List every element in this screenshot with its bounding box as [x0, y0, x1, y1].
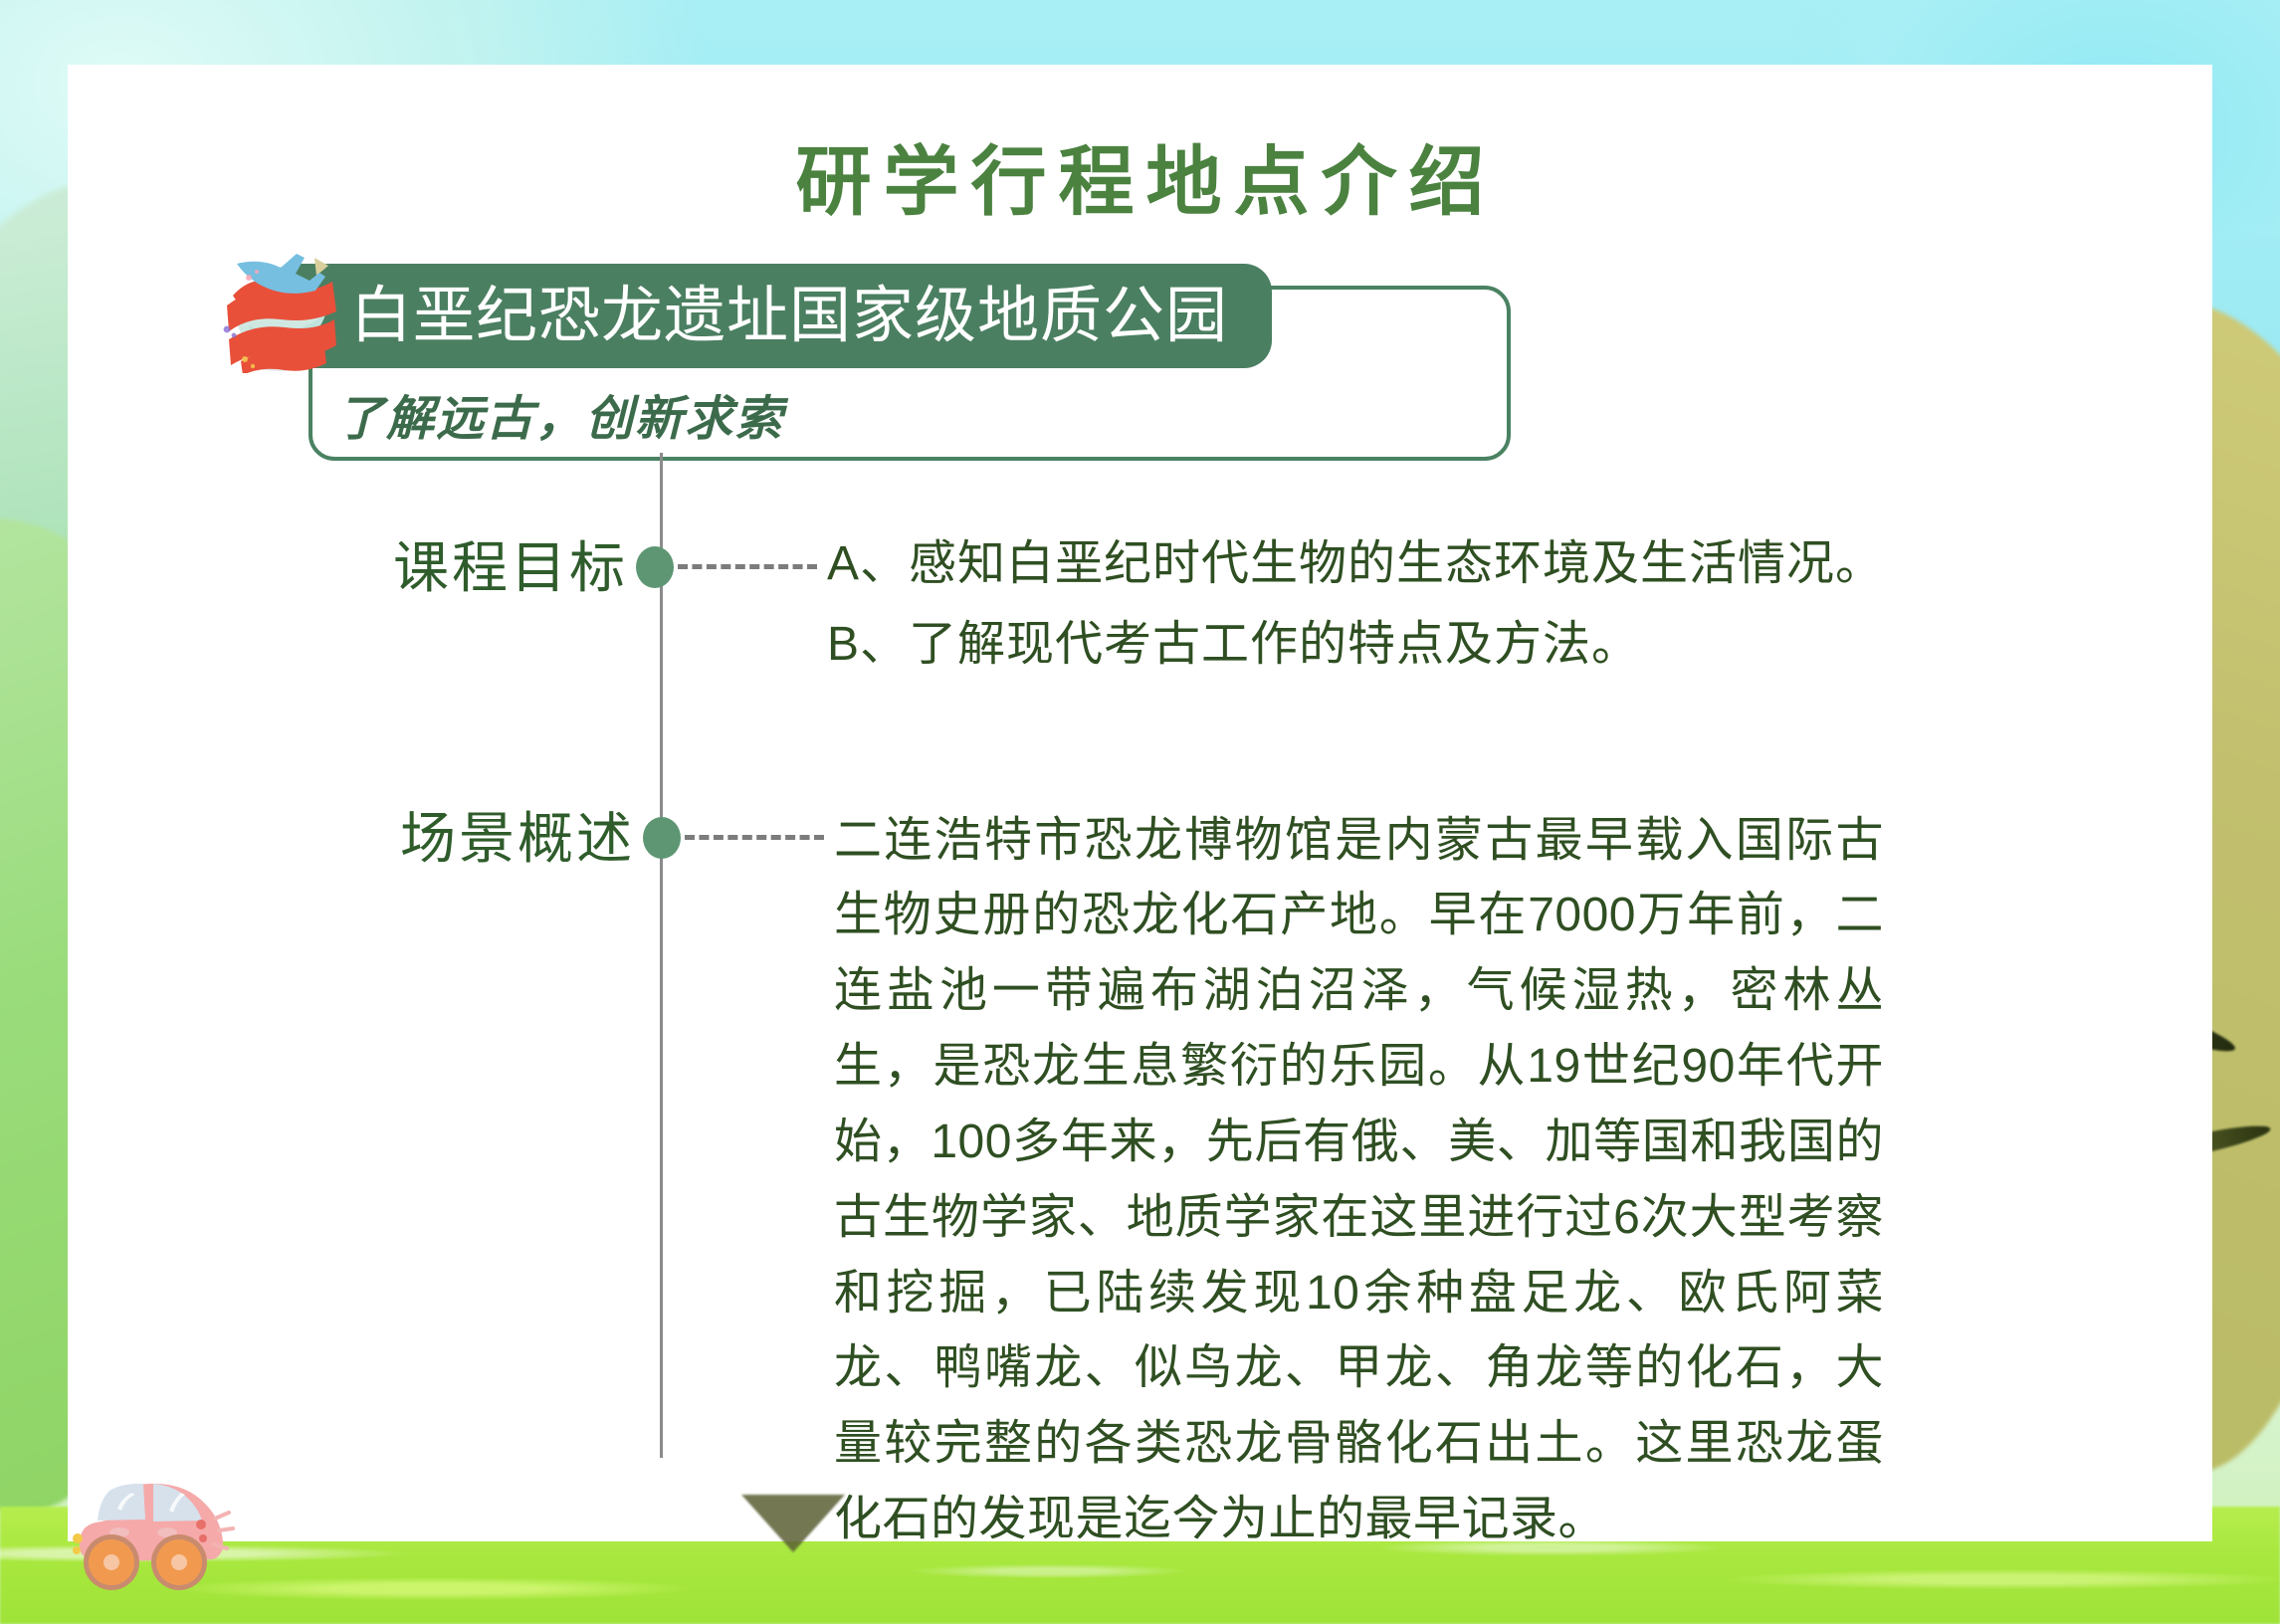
timeline-dot-icon [636, 546, 674, 588]
header-subtitle: 了解远古，创新求索 [336, 379, 784, 449]
connector-scene-overview [635, 803, 834, 873]
goal-item-a: A、感知白垩纪时代生物的生态环境及生活情况。 [827, 532, 1884, 597]
pink-car-icon [58, 1453, 247, 1600]
background-dark-triangle [741, 1495, 845, 1552]
slide-root: 研学行程地点介绍 [0, 0, 2280, 1624]
connector-course-goals [628, 532, 827, 602]
goal-item-b: B、了解现代考古工作的特点及方法。 [827, 613, 1884, 678]
content-card: 研学行程地点介绍 [68, 65, 2212, 1541]
section-scene-overview: 场景概述 二连浩特市恐龙博物馆是内蒙古最早载入国际古生物史册的恐龙化石产地。早在… [68, 803, 2212, 1557]
globe-airplane-icon [219, 234, 338, 373]
content-sections: 课程目标 A、感知白垩纪时代生物的生态环境及生活情况。 B、了解现代考古工作的特… [68, 532, 2212, 1557]
dashed-connector-line [685, 835, 824, 840]
scene-overview-paragraph: 二连浩特市恐龙博物馆是内蒙古最早载入国际古生物史册的恐龙化石产地。早在7000万… [834, 803, 1884, 1557]
section-label-scene-overview: 场景概述 [68, 803, 635, 867]
location-badge-title: 白垩纪恐龙遗址国家级地质公园 [350, 286, 1228, 347]
header-block: 白垩纪恐龙遗址国家级地质公园 了解远古，创新求索 [237, 264, 1541, 468]
page-title: 研学行程地点介绍 [68, 120, 2212, 230]
section-body-scene-overview: 二连浩特市恐龙博物馆是内蒙古最早载入国际古生物史册的恐龙化石产地。早在7000万… [834, 803, 2212, 1557]
section-body-course-goals: A、感知白垩纪时代生物的生态环境及生活情况。 B、了解现代考古工作的特点及方法。 [827, 532, 2212, 694]
section-label-course-goals: 课程目标 [68, 532, 628, 596]
section-course-goals: 课程目标 A、感知白垩纪时代生物的生态环境及生活情况。 B、了解现代考古工作的特… [68, 532, 2212, 694]
dashed-connector-line [678, 564, 817, 569]
timeline-dot-icon [643, 817, 681, 859]
location-badge[interactable]: 白垩纪恐龙遗址国家级地质公园 [267, 264, 1272, 368]
